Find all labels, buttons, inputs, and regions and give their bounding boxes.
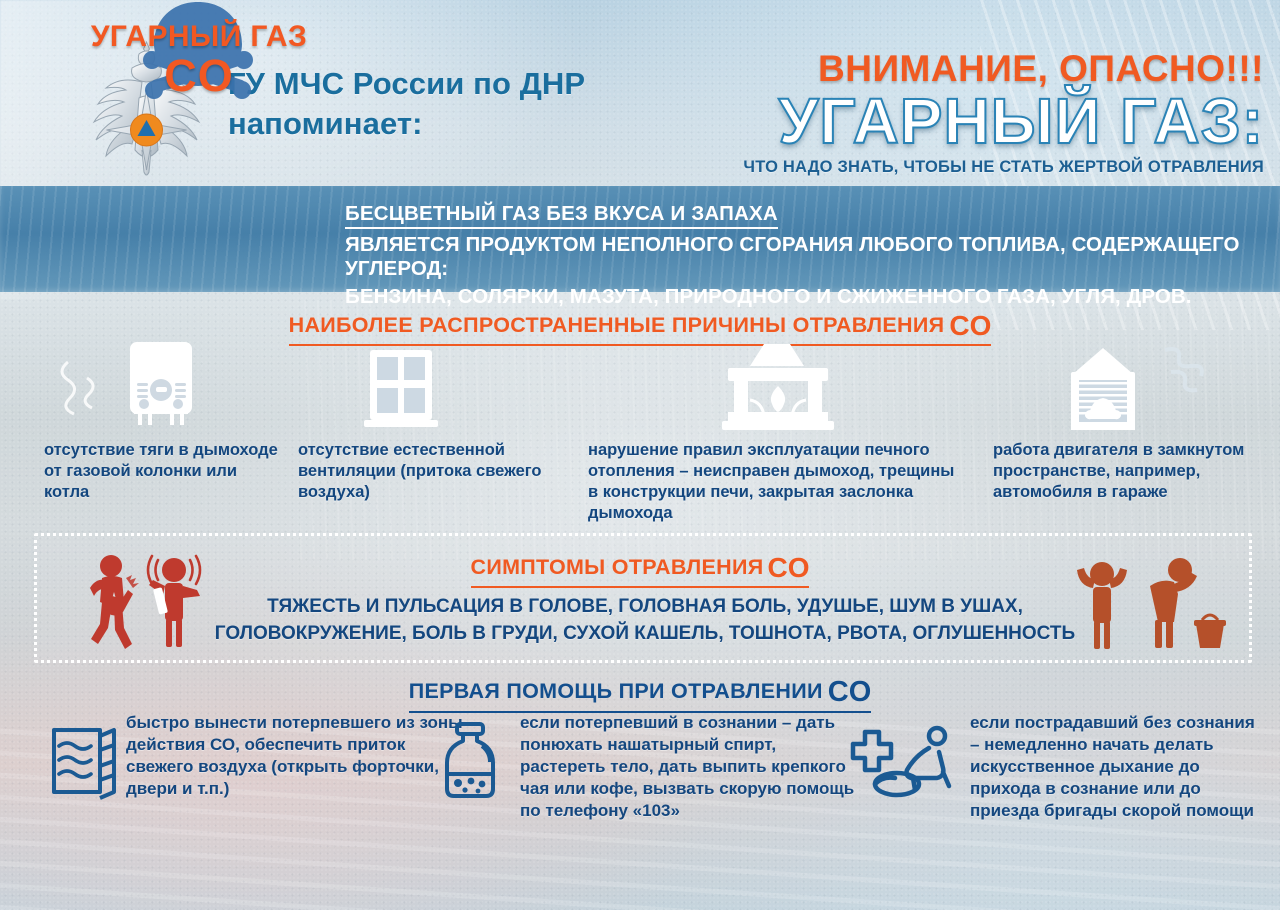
first-aid-item-label: быстро вынести потерпевшего из зоны дейс… [126, 712, 468, 800]
causes-row: отсутствие тяги в дымоходе от газовой ко… [0, 342, 1280, 522]
definition-line3: БЕНЗИНА, СОЛЯРКИ, МАЗУТА, ПРИРОДНОГО И С… [345, 285, 1275, 309]
open-window-airflow-icon [48, 722, 120, 807]
symptoms-text: ТЯЖЕСТЬ И ПУЛЬСАЦИЯ В ГОЛОВЕ, ГОЛОВНАЯ Б… [210, 594, 1080, 647]
symptoms-line1: ТЯЖЕСТЬ И ПУЛЬСАЦИЯ В ГОЛОВЕ, ГОЛОВНАЯ Б… [210, 594, 1080, 621]
badge-word-gas: УГАРНЫЙ ГАЗ [88, 20, 310, 54]
gas-boiler-icon [44, 342, 284, 434]
causes-heading-text: НАИБОЛЕЕ РАСПРОСТРАНЕННЫЕ ПРИЧИНЫ ОТРАВЛ… [289, 313, 945, 337]
cause-item: отсутствие естественной вентиляции (прит… [298, 342, 548, 503]
first-aid-item-label: если потерпевший в сознании – дать понюх… [520, 712, 862, 822]
cause-item-label: отсутствие тяги в дымоходе от газовой ко… [44, 440, 284, 503]
headache-person-icon [1062, 552, 1238, 652]
causes-heading-co: CO [949, 310, 991, 341]
cause-item-label: отсутствие естественной вентиляции (прит… [298, 440, 548, 503]
cpr-resuscitation-icon [845, 722, 957, 807]
cause-item-label: работа двигателя в замкнутом пространств… [993, 440, 1255, 503]
page-subtitle: ЧТО НАДО ЗНАТЬ, ЧТОБЫ НЕ СТАТЬ ЖЕРТВОЙ О… [524, 158, 1264, 177]
co-skull-badge: УГАРНЫЙ ГАЗ CO [72, 0, 320, 108]
cause-item: нарушение правил эксплуатации печного от… [588, 342, 968, 524]
poster-root: ГУ МЧС России по ДНР напоминает: ВНИМАНИ… [0, 0, 1280, 910]
ammonia-bottle-icon [432, 722, 512, 807]
first-aid-item: быстро вынести потерпевшего из зоны дейс… [48, 712, 468, 800]
definition-line1: БЕСЦВЕТНЫЙ ГАЗ БЕЗ ВКУСА И ЗАПАХА [345, 202, 778, 229]
symptoms-heading-text: СИМПТОМЫ ОТРАВЛЕНИЯ [471, 555, 764, 579]
definition-line2: ЯВЛЯЕТСЯ ПРОДУКТОМ НЕПОЛНОГО СГОРАНИЯ ЛЮ… [345, 233, 1275, 281]
badge-word-co: CO [88, 50, 310, 102]
first-aid-item-label: если пострадавший без сознания – немедле… [970, 712, 1265, 822]
window-icon [298, 342, 548, 434]
cause-item: отсутствие тяги в дымоходе от газовой ко… [44, 342, 284, 503]
first-aid-row: быстро вынести потерпевшего из зоны дейс… [0, 712, 1280, 882]
main-title-block: ВНИМАНИЕ, ОПАСНО!!! УГАРНЫЙ ГАЗ: ЧТО НАД… [524, 50, 1264, 177]
page-title: УГАРНЫЙ ГАЗ: [524, 89, 1264, 154]
attention-warning-text: ВНИМАНИЕ, ОПАСНО!!! [524, 50, 1264, 87]
first-aid-heading-text: ПЕРВАЯ ПОМОЩЬ ПРИ ОТРАВЛЕНИИ [409, 679, 823, 703]
first-aid-item: если пострадавший без сознания – немедле… [845, 712, 1265, 822]
definition-text: БЕСЦВЕТНЫЙ ГАЗ БЕЗ ВКУСА И ЗАПАХА ЯВЛЯЕТ… [345, 202, 1275, 309]
coughing-person-icon [64, 552, 224, 652]
symptoms-line2: ГОЛОВОКРУЖЕНИЕ, БОЛЬ В ГРУДИ, СУХОЙ КАШЕ… [210, 621, 1080, 648]
first-aid-heading: ПЕРВАЯ ПОМОЩЬ ПРИ ОТРАВЛЕНИИCO [0, 676, 1280, 713]
cause-item: работа двигателя в замкнутом пространств… [993, 342, 1255, 503]
fireplace-icon [588, 342, 968, 434]
first-aid-heading-co: CO [828, 676, 872, 708]
garage-car-icon [993, 342, 1255, 434]
symptoms-heading-co: CO [767, 552, 809, 583]
first-aid-item: если потерпевший в сознании – дать понюх… [432, 712, 862, 822]
cause-item-label: нарушение правил эксплуатации печного от… [588, 440, 968, 524]
causes-heading: НАИБОЛЕЕ РАСПРОСТРАНЕННЫЕ ПРИЧИНЫ ОТРАВЛ… [0, 310, 1280, 346]
